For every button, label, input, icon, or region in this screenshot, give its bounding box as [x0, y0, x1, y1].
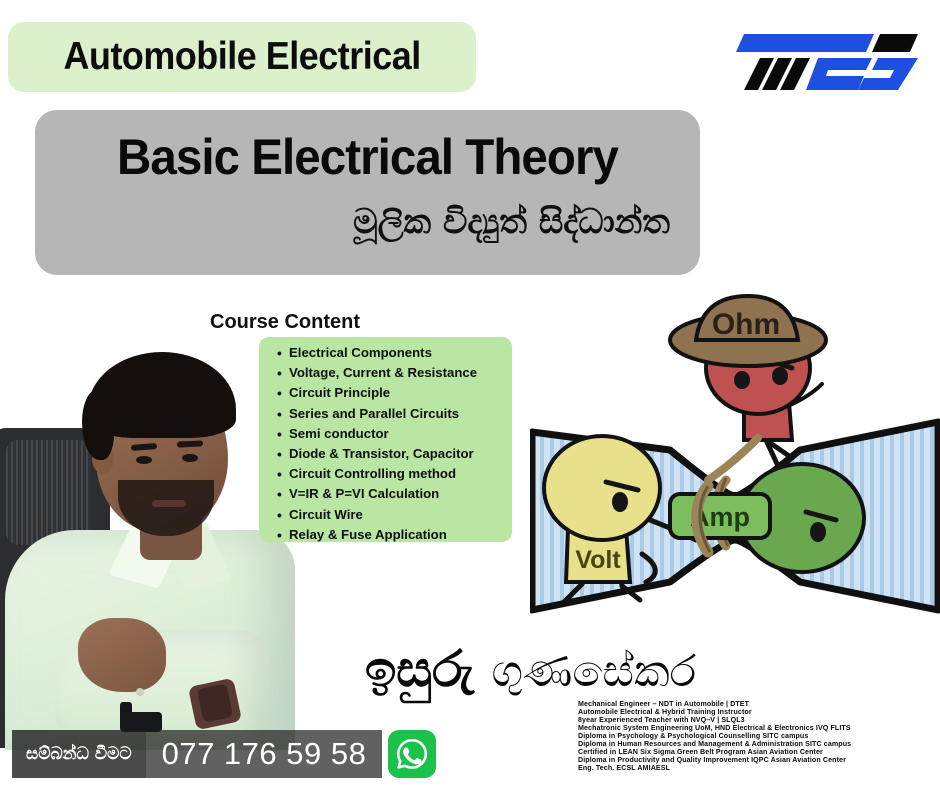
credentials-block: Mechanical Engineer – NDT in Automobile … [578, 700, 918, 772]
presenter-name-last: ගුණසේකර [491, 646, 696, 697]
credential-line: Diploma in Productivity and Quality Impr… [578, 756, 918, 764]
poster-canvas: Automobile Electrical Basic Electrical T… [0, 0, 940, 788]
page-title-sinhala: මූලික විද්‍යුත් සිද්ධාන්ත [353, 202, 670, 242]
course-content-list: Electrical Components Voltage, Current &… [259, 343, 512, 545]
hand [78, 618, 166, 692]
character-ohm-label: Ohm [712, 308, 780, 341]
whatsapp-icon [394, 736, 430, 772]
list-item: Circuit Controlling method [277, 464, 504, 484]
credential-line: Certified in LEAN Six Sigma Green Belt P… [578, 748, 918, 756]
list-item: Diode & Transistor, Capacitor [277, 444, 504, 464]
list-item: Semi conductor [277, 424, 504, 444]
tes-logo-icon [722, 22, 918, 94]
credential-line: 8year Experienced Teacher with NVQ–V | S… [578, 716, 918, 724]
list-item: Series and Parallel Circuits [277, 404, 504, 424]
credential-line: Eng. Tech. ECSL AMIAESL [578, 764, 918, 772]
presenter-name-first: ඉසුරු [365, 640, 474, 698]
list-item: Electrical Components [277, 343, 504, 363]
eye-right [182, 454, 198, 462]
credential-line: Diploma in Human Resources and Managemen… [578, 740, 918, 748]
presenter-name: ඉසුරු ගුණසේකර [365, 640, 696, 699]
title-card: Basic Electrical Theory මූලික විද්‍යුත් … [35, 110, 700, 275]
ohms-law-cartoon: Ohm Volt Amp [530, 290, 940, 620]
tes-logo [722, 22, 918, 94]
character-volt-label: Volt [575, 546, 621, 574]
credential-line: Mechatronic System Engineering UoM, HND … [578, 724, 918, 732]
lapel-mic [120, 712, 162, 732]
category-badge: Automobile Electrical [8, 22, 476, 92]
shirt-button-upper [136, 688, 144, 696]
contact-phone-number[interactable]: 077 176 59 58 [146, 730, 383, 778]
list-item: Circuit Wire [277, 505, 504, 525]
list-item: V=IR & P=VI Calculation [277, 484, 504, 504]
ohms-law-illustration: Ohm Volt Amp [530, 290, 940, 620]
list-item: Voltage, Current & Resistance [277, 363, 504, 383]
credential-line: Automobile Electrical & Hybrid Training … [578, 708, 918, 716]
whatsapp-button[interactable] [388, 730, 436, 778]
list-item: Circuit Principle [277, 383, 504, 403]
category-badge-label: Automobile Electrical [63, 35, 420, 79]
presenter-photo [0, 330, 300, 750]
credential-line: Diploma in Psychology & Psychological Co… [578, 732, 918, 740]
hair-side [82, 390, 114, 460]
mouth [152, 500, 186, 507]
page-title: Basic Electrical Theory [52, 128, 684, 186]
course-content-box: Electrical Components Voltage, Current &… [259, 337, 512, 542]
course-content-heading: Course Content [210, 311, 360, 334]
contact-bar: සම්බන්ධ වීමට 077 176 59 58 [12, 730, 436, 778]
credential-line: Mechanical Engineer – NDT in Automobile … [578, 700, 918, 708]
list-item: Relay & Fuse Application [277, 525, 504, 545]
contact-label-sinhala: සම්බන්ධ වීමට [12, 730, 146, 778]
character-ohm: Ohm [670, 296, 826, 466]
eye-left [136, 456, 152, 464]
